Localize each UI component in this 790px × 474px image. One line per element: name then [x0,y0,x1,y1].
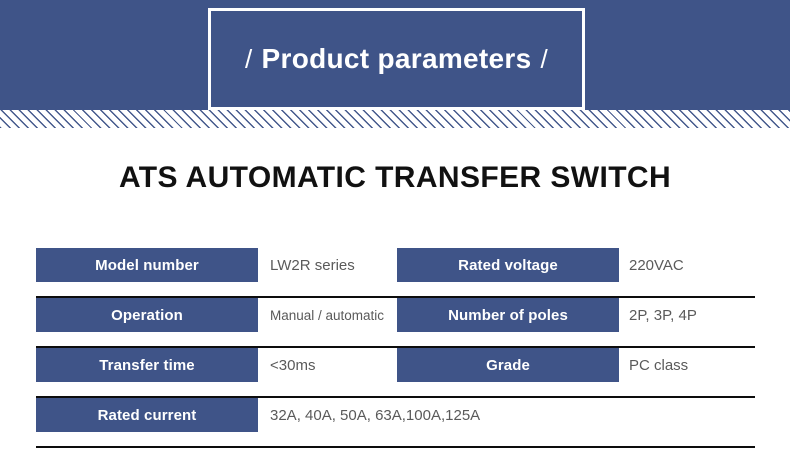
table-row: Rated current 32A, 40A, 50A, 63A,100A,12… [36,398,755,448]
spec-value: <30ms [270,348,395,382]
spec-value: PC class [629,348,755,382]
spec-value: 32A, 40A, 50A, 63A,100A,125A [270,398,755,432]
banner-title-text: Product parameters [262,43,532,75]
table-row: Operation Manual / automatic Number of p… [36,298,755,348]
spec-label: Operation [36,298,258,332]
spec-value: Manual / automatic [270,298,395,332]
table-row: Transfer time <30ms Grade PC class [36,348,755,398]
table-row: Model number LW2R series Rated voltage 2… [36,248,755,298]
spec-table: Model number LW2R series Rated voltage 2… [36,248,755,448]
right-slash-decoration: / [531,44,557,75]
product-parameters-page: / Product parameters / ATS AUTOMATIC TRA… [0,0,790,474]
hatch-divider [0,110,790,128]
spec-value: 220VAC [629,248,755,282]
spec-label: Rated current [36,398,258,432]
banner-title: / Product parameters / [208,8,585,110]
left-slash-decoration: / [236,44,262,75]
spec-value: LW2R series [270,248,395,282]
spec-label: Grade [397,348,619,382]
page-title: ATS AUTOMATIC TRANSFER SWITCH [0,161,790,195]
spec-label: Rated voltage [397,248,619,282]
spec-label: Transfer time [36,348,258,382]
banner: / Product parameters / [0,0,790,110]
spec-value: 2P, 3P, 4P [629,298,755,332]
spec-label: Model number [36,248,258,282]
spec-label: Number of poles [397,298,619,332]
